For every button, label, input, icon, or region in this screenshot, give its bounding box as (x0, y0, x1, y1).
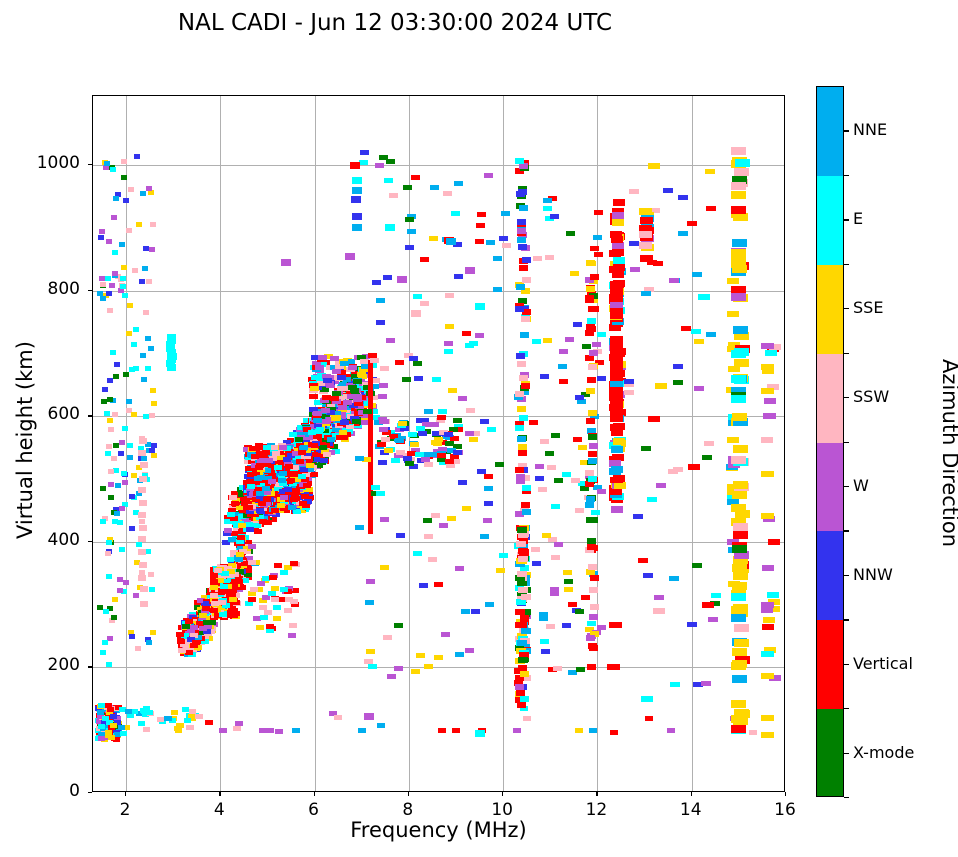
colorbar-boundary-tick (844, 797, 849, 798)
data-mark (353, 394, 362, 399)
page-title: NAL CADI - Jun 12 03:30:00 2024 UTC (0, 10, 790, 36)
data-mark (590, 575, 599, 581)
data-mark (706, 206, 716, 211)
data-mark (340, 420, 349, 425)
data-mark (323, 378, 332, 383)
data-mark (551, 555, 560, 560)
data-mark (520, 696, 529, 702)
data-mark (143, 414, 149, 419)
data-mark (591, 510, 600, 515)
data-mark (428, 557, 437, 562)
data-mark (110, 723, 117, 728)
data-mark (138, 549, 146, 555)
data-mark (438, 728, 446, 733)
data-mark (271, 597, 279, 602)
data-mark (486, 240, 495, 245)
data-mark (597, 489, 606, 494)
data-mark (533, 256, 542, 261)
data-mark (327, 437, 335, 442)
data-mark (110, 167, 116, 172)
data-mark (568, 602, 577, 607)
x-axis-tick-label: 12 (576, 800, 616, 820)
data-mark (284, 608, 292, 613)
data-mark (106, 662, 112, 667)
data-mark (465, 431, 474, 436)
data-mark (668, 469, 678, 474)
data-mark (465, 267, 475, 274)
data-mark (575, 508, 584, 513)
data-mark (379, 419, 388, 424)
data-mark (629, 189, 639, 194)
data-mark (656, 483, 666, 488)
data-mark (214, 568, 222, 573)
data-mark (110, 350, 116, 355)
data-mark (339, 430, 347, 435)
data-mark (210, 608, 218, 613)
data-mark (377, 723, 385, 728)
data-mark (519, 205, 528, 211)
data-mark (379, 383, 388, 388)
data-mark (362, 457, 371, 462)
data-mark (127, 303, 133, 308)
data-mark (108, 427, 114, 432)
plot-area[interactable] (92, 95, 785, 792)
colorbar-segment-x-mode[interactable] (817, 709, 843, 797)
data-mark (410, 442, 419, 447)
data-mark (303, 483, 311, 488)
data-mark (117, 588, 123, 593)
data-mark (515, 609, 525, 615)
data-mark (112, 250, 118, 255)
data-mark (140, 191, 146, 196)
data-mark (610, 336, 623, 343)
data-mark (389, 193, 398, 198)
data-mark (111, 615, 117, 620)
x-axis-tick (219, 792, 220, 796)
data-mark (106, 239, 112, 244)
y-axis-tick (88, 541, 92, 542)
data-mark (732, 545, 747, 553)
data-mark (98, 724, 105, 729)
data-mark (140, 462, 148, 468)
data-mark (559, 349, 568, 354)
data-mark (445, 459, 454, 464)
data-mark (545, 451, 554, 456)
data-mark (139, 279, 145, 284)
data-mark (586, 260, 595, 266)
data-mark (516, 478, 525, 484)
data-mark (403, 185, 412, 190)
data-mark (639, 231, 652, 238)
colorbar-tick (844, 130, 849, 131)
data-mark (475, 239, 484, 244)
data-mark (120, 284, 126, 289)
data-mark (541, 649, 550, 654)
data-mark (199, 613, 207, 618)
data-mark (112, 271, 118, 276)
data-mark (120, 731, 127, 736)
data-mark (586, 418, 595, 424)
data-mark (380, 565, 389, 570)
colorbar-segment-e[interactable] (817, 176, 843, 265)
data-mark (711, 593, 721, 598)
colorbar-segment-nne[interactable] (817, 87, 843, 176)
data-mark (446, 463, 455, 468)
data-mark (350, 388, 359, 393)
data-mark (231, 501, 239, 506)
data-mark (701, 681, 711, 686)
data-mark (590, 274, 599, 280)
data-mark (368, 353, 377, 358)
data-mark (731, 147, 746, 155)
data-mark (607, 664, 620, 670)
data-mark (273, 616, 281, 621)
data-mark (767, 592, 779, 598)
colorbar-tick (844, 753, 849, 754)
colorbar-segment-vertical[interactable] (817, 620, 843, 709)
data-mark (140, 601, 148, 607)
data-mark (411, 310, 421, 317)
data-mark (377, 442, 386, 447)
data-mark (462, 506, 471, 511)
data-mark (613, 438, 625, 445)
data-mark (587, 377, 596, 383)
data-mark (372, 280, 381, 285)
data-mark (515, 467, 524, 473)
data-mark (673, 364, 683, 369)
data-mark (521, 628, 531, 634)
data-mark (430, 422, 439, 427)
data-mark (289, 623, 297, 628)
data-mark (452, 728, 460, 733)
data-mark (761, 602, 774, 608)
data-mark (587, 544, 596, 550)
data-mark (516, 284, 525, 290)
data-mark (419, 583, 428, 588)
data-mark (138, 721, 145, 726)
data-mark (218, 600, 226, 605)
data-mark (379, 155, 388, 160)
data-mark (235, 557, 243, 562)
data-mark (139, 525, 147, 531)
data-mark (708, 617, 718, 622)
data-mark (594, 252, 603, 257)
data-mark (345, 253, 355, 260)
data-mark (597, 332, 606, 337)
data-mark (588, 410, 597, 416)
data-mark (364, 659, 373, 664)
colorbar-segment-nnw[interactable] (817, 531, 843, 620)
data-mark (291, 493, 299, 498)
data-mark (610, 381, 623, 387)
data-mark (138, 536, 146, 542)
data-mark (612, 212, 624, 219)
x-axis-tick (502, 792, 503, 796)
x-axis-tick-label: 8 (388, 800, 428, 820)
data-mark (280, 495, 288, 500)
data-mark (408, 432, 417, 437)
data-mark (150, 388, 156, 393)
data-mark (376, 491, 385, 496)
data-mark (597, 376, 606, 381)
data-mark (731, 700, 746, 708)
data-mark (732, 265, 747, 273)
data-mark (292, 728, 300, 733)
data-mark (100, 486, 106, 491)
data-mark (268, 479, 276, 484)
data-mark (334, 715, 342, 720)
data-mark (493, 256, 502, 261)
data-mark (447, 516, 456, 521)
data-mark (589, 728, 597, 733)
data-mark (540, 639, 549, 644)
data-mark (413, 361, 422, 366)
data-mark (522, 485, 531, 491)
data-mark (386, 338, 395, 343)
data-mark (732, 675, 747, 683)
data-mark (522, 257, 531, 263)
data-mark (114, 362, 120, 367)
data-mark (149, 448, 155, 453)
data-mark (763, 617, 775, 623)
data-mark (118, 451, 124, 456)
data-mark (535, 464, 544, 469)
data-mark (310, 386, 319, 391)
data-mark (581, 595, 590, 600)
data-mark (610, 730, 618, 735)
colorbar-segment-w[interactable] (817, 443, 843, 532)
data-mark (562, 623, 571, 628)
data-mark (355, 525, 364, 530)
colorbar-label-nnw: NNW (853, 565, 893, 584)
data-mark (765, 350, 777, 356)
data-mark (139, 438, 147, 444)
data-mark (182, 624, 190, 629)
data-mark (550, 214, 559, 219)
data-mark (176, 632, 184, 637)
data-mark (424, 664, 433, 669)
data-mark (543, 338, 552, 343)
x-axis-tick (408, 792, 409, 796)
x-axis-tick (691, 792, 692, 796)
data-mark (122, 426, 128, 431)
data-mark (590, 246, 599, 251)
data-mark (254, 529, 262, 534)
data-mark (296, 459, 304, 464)
data-mark (149, 587, 155, 592)
x-axis-tick-label: 6 (294, 800, 334, 820)
data-mark (517, 436, 526, 442)
data-mark (611, 429, 623, 436)
colorbar-boundary-tick (844, 442, 849, 443)
data-mark (761, 673, 774, 679)
data-mark (104, 411, 110, 416)
data-mark (733, 481, 748, 489)
data-mark (103, 609, 109, 614)
data-mark (731, 725, 746, 733)
data-mark (763, 413, 776, 419)
colorbar[interactable] (816, 86, 844, 797)
data-mark (585, 355, 594, 361)
colorbar-tick (844, 219, 849, 220)
data-mark (761, 715, 774, 721)
data-mark (109, 283, 115, 288)
data-mark (643, 573, 653, 578)
data-mark (123, 580, 129, 585)
data-mark (566, 231, 575, 236)
data-mark (733, 531, 748, 539)
data-mark (107, 378, 113, 383)
data-mark (359, 160, 368, 165)
data-mark (761, 471, 774, 477)
data-mark (268, 591, 276, 596)
data-mark (420, 301, 429, 306)
data-mark (571, 478, 580, 483)
data-mark (285, 597, 293, 602)
data-mark (229, 495, 237, 500)
data-mark (353, 379, 362, 384)
data-mark (609, 250, 621, 257)
data-mark (142, 266, 148, 271)
data-mark (611, 506, 623, 513)
data-mark (484, 474, 493, 479)
data-mark (107, 308, 113, 313)
data-mark (272, 451, 280, 456)
data-mark (133, 327, 139, 332)
y-axis-tick (88, 290, 92, 291)
data-mark (395, 360, 404, 365)
data-mark (235, 721, 243, 726)
data-mark (522, 509, 531, 515)
data-mark (727, 437, 739, 443)
gridline-vertical (503, 96, 504, 791)
data-mark (127, 455, 133, 460)
data-mark (542, 533, 551, 538)
data-mark (245, 505, 253, 510)
data-mark (148, 572, 154, 577)
data-mark (114, 511, 120, 516)
data-mark (487, 427, 496, 432)
data-mark (405, 245, 414, 250)
colorbar-boundary-tick (844, 264, 849, 265)
data-mark (355, 456, 364, 461)
data-mark (434, 655, 443, 660)
data-mark (205, 720, 213, 725)
data-mark (380, 517, 389, 522)
data-mark (113, 196, 119, 201)
colorbar-boundary-tick (844, 175, 849, 176)
data-mark (139, 500, 147, 506)
data-mark (340, 361, 349, 366)
data-mark (398, 421, 407, 426)
colorbar-segment-sse[interactable] (817, 265, 843, 354)
data-mark (371, 485, 380, 490)
data-mark (323, 452, 331, 457)
data-mark (654, 595, 664, 600)
data-mark (411, 175, 420, 180)
data-mark (195, 714, 203, 719)
data-mark (640, 255, 653, 262)
data-mark (633, 514, 643, 519)
data-mark (97, 710, 104, 715)
data-mark (578, 445, 587, 450)
data-mark (140, 586, 148, 592)
data-mark (274, 563, 282, 568)
data-mark (477, 469, 486, 474)
data-mark (424, 462, 433, 467)
data-mark (121, 471, 127, 476)
data-mark (612, 242, 624, 249)
gridline-horizontal (93, 165, 784, 166)
data-mark (610, 302, 623, 308)
data-mark (501, 211, 510, 216)
data-mark (118, 725, 125, 730)
data-mark (522, 277, 531, 283)
data-mark (138, 450, 146, 456)
data-mark (105, 551, 111, 556)
data-mark (692, 272, 702, 277)
data-mark (588, 564, 597, 570)
colorbar-tick (844, 486, 849, 487)
data-mark (586, 324, 595, 330)
data-mark (273, 605, 281, 610)
data-mark (592, 342, 601, 347)
data-mark (380, 366, 389, 371)
colorbar-tick (844, 397, 849, 398)
data-mark (465, 343, 474, 348)
data-mark (515, 425, 524, 431)
data-mark (136, 222, 142, 227)
data-mark (515, 684, 524, 690)
data-mark (102, 716, 109, 721)
data-mark (111, 215, 117, 220)
data-mark (553, 666, 562, 671)
data-mark (108, 482, 114, 487)
data-mark (624, 390, 634, 395)
data-mark (171, 710, 178, 715)
data-mark (248, 597, 256, 602)
data-mark (146, 279, 152, 284)
data-mark (182, 707, 189, 712)
data-mark (143, 310, 149, 315)
colorbar-segment-ssw[interactable] (817, 354, 843, 443)
data-mark (278, 478, 286, 483)
data-mark (564, 587, 573, 592)
data-mark (123, 198, 129, 203)
data-mark (610, 281, 623, 288)
data-mark (288, 505, 296, 510)
data-mark (733, 326, 748, 334)
data-mark (539, 616, 548, 621)
data-mark (531, 547, 540, 552)
data-mark (315, 429, 323, 434)
data-mark (731, 375, 746, 383)
data-mark (694, 339, 704, 344)
data-mark (681, 326, 691, 331)
data-mark (706, 332, 716, 337)
data-mark (150, 630, 156, 635)
data-mark (106, 444, 112, 449)
data-mark (444, 349, 453, 354)
data-mark (484, 173, 493, 178)
data-mark (383, 275, 392, 280)
data-mark (423, 518, 432, 523)
data-mark (129, 634, 135, 639)
x-axis-tick-label: 4 (199, 800, 239, 820)
data-mark (332, 369, 341, 374)
data-mark (131, 412, 137, 417)
data-mark (655, 383, 667, 389)
